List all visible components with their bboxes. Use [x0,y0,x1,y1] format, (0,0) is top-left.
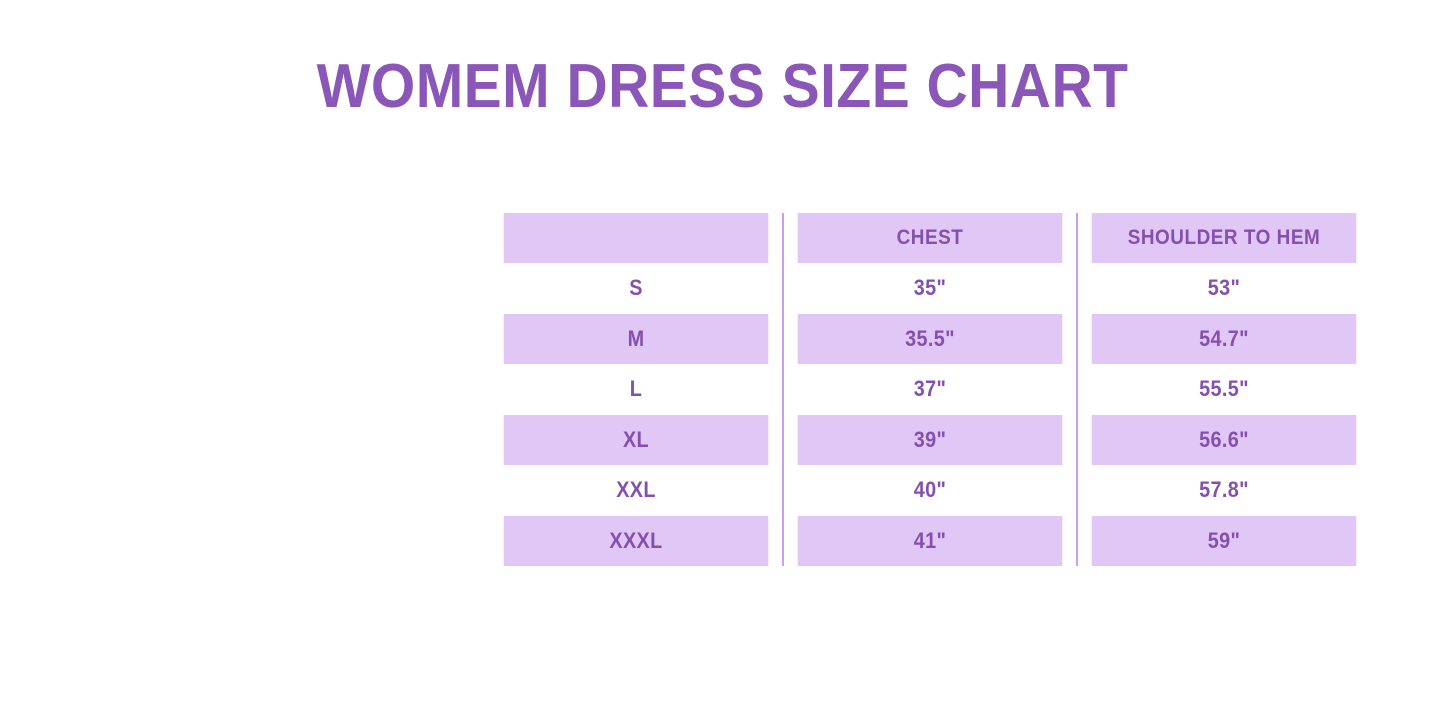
cell-size: XL [504,415,769,466]
table-row: XXL 40" 57.8" [489,465,1371,516]
column-header-size [504,213,769,263]
page-title: WOMEM DRESS SIZE CHART [58,52,1387,122]
table-row: XXXL 41" 59" [489,516,1371,567]
size-chart-table-container: CHEST SHOULDER TO HEM S 35" 53" M 35.5" … [489,213,1371,566]
cell-size: L [504,364,769,415]
table-header-row: CHEST SHOULDER TO HEM [489,213,1371,263]
table-body: S 35" 53" M 35.5" 54.7" L 37" 55.5" XL 3… [489,263,1371,566]
cell-shoulder-to-hem: 59" [1092,516,1357,567]
table-row: S 35" 53" [489,263,1371,314]
cell-shoulder-to-hem: 53" [1092,263,1357,314]
cell-shoulder-to-hem: 57.8" [1092,465,1357,516]
cell-shoulder-to-hem: 55.5" [1092,364,1357,415]
cell-chest: 41" [798,516,1063,567]
cell-size: XXL [504,465,769,516]
size-chart-page: WOMEM DRESS SIZE CHART CHEST SHOULDER TO… [0,0,1445,723]
cell-chest: 35" [798,263,1063,314]
cell-size: M [504,314,769,365]
table-header: CHEST SHOULDER TO HEM [489,213,1371,263]
cell-chest: 35.5" [798,314,1063,365]
cell-size: XXXL [504,516,769,567]
cell-size: S [504,263,769,314]
size-chart-table: CHEST SHOULDER TO HEM S 35" 53" M 35.5" … [489,213,1371,566]
table-row: M 35.5" 54.7" [489,314,1371,365]
cell-chest: 40" [798,465,1063,516]
column-header-chest: CHEST [798,213,1063,263]
cell-chest: 39" [798,415,1063,466]
table-row: L 37" 55.5" [489,364,1371,415]
table-row: XL 39" 56.6" [489,415,1371,466]
cell-shoulder-to-hem: 54.7" [1092,314,1357,365]
cell-shoulder-to-hem: 56.6" [1092,415,1357,466]
cell-chest: 37" [798,364,1063,415]
column-header-shoulder-to-hem: SHOULDER TO HEM [1092,213,1357,263]
